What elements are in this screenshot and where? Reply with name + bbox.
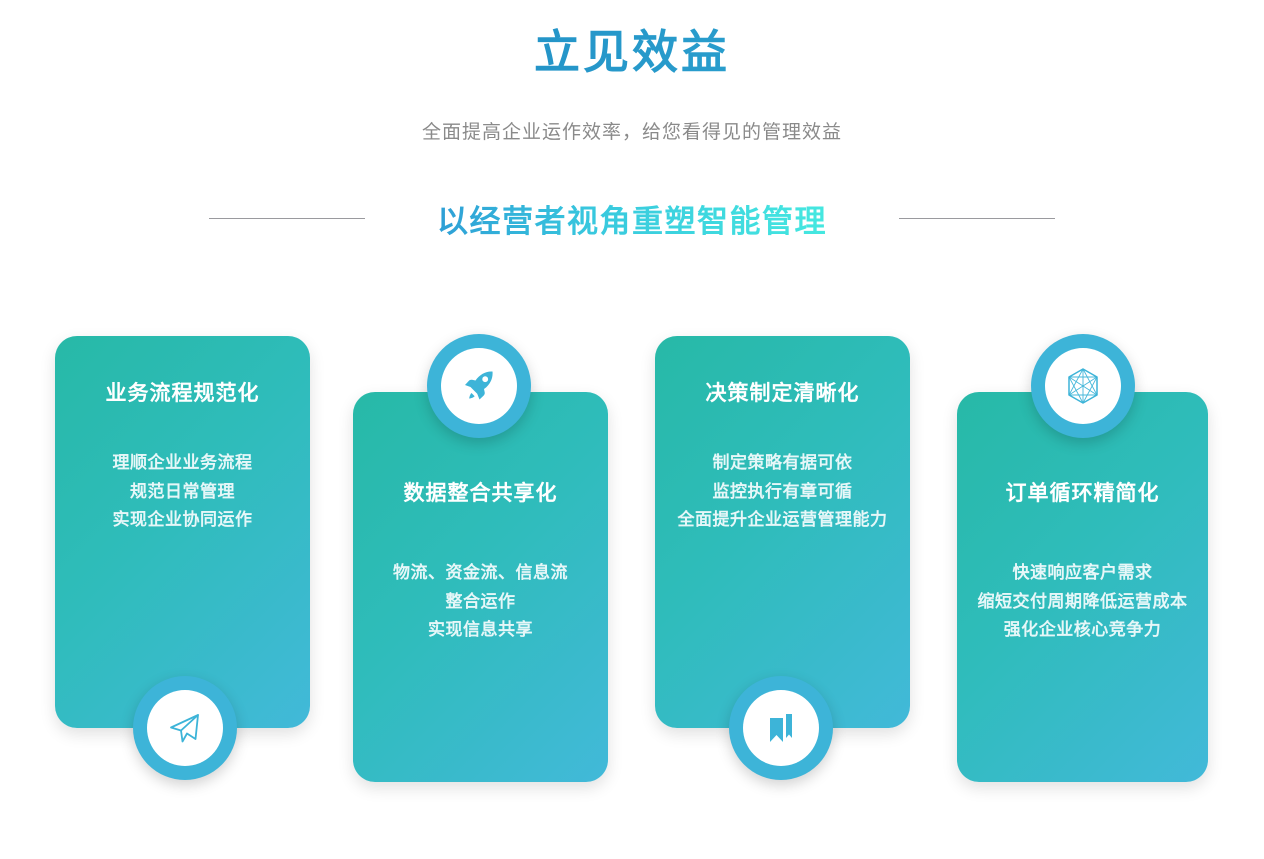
benefit-card-3-description: 制定策略有据可依 监控执行有章可循 全面提升企业运营管理能力 [673,449,892,534]
benefit-card-3-title: 决策制定清晰化 [673,380,892,407]
badge-inner-circle [743,690,819,766]
benefit-card-3-badge[interactable] [729,676,833,780]
badge-inner-circle [147,690,223,766]
benefit-card-4-title: 订单循环精简化 [973,480,1192,507]
divider-right [899,218,1055,219]
section-heading-text: 以经营者视角重塑智能管理 [437,196,827,241]
benefit-card-2[interactable]: 数据整合共享化 物流、资金流、信息流 整合运作 实现信息共享 [353,392,608,782]
page-header: 立见效益 全面提高企业运作效率，给您看得见的管理效益 以经营者视角重塑智能管理 [0,0,1264,241]
benefit-card-2-description: 物流、资金流、信息流 整合运作 实现信息共享 [373,559,588,644]
rocket-icon [459,366,499,406]
page-title: 立见效益 [0,26,1264,79]
benefit-card-4-badge[interactable] [1031,334,1135,438]
benefit-card-1-description: 理顺企业业务流程 规范日常管理 实现企业协同运作 [77,449,288,534]
page-subtitle: 全面提高企业运作效率，给您看得见的管理效益 [0,117,1264,144]
divider-left [209,218,365,219]
benefit-card-3[interactable]: 决策制定清晰化 制定策略有据可依 监控执行有章可循 全面提升企业运营管理能力 [655,336,910,728]
badge-inner-circle [1045,348,1121,424]
benefit-card-1-badge[interactable] [133,676,237,780]
section-heading: 以经营者视角重塑智能管理 [0,196,1264,241]
hexagon-network-icon [1062,365,1104,407]
benefit-card-2-badge[interactable] [427,334,531,438]
benefit-card-2-title: 数据整合共享化 [373,480,588,507]
benefit-card-1-title: 业务流程规范化 [77,380,288,407]
benefit-card-4-description: 快速响应客户需求 缩短交付周期降低运营成本 强化企业核心竞争力 [973,559,1192,644]
benefit-card-4[interactable]: 订单循环精简化 快速响应客户需求 缩短交付周期降低运营成本 强化企业核心竞争力 [957,392,1208,782]
benefit-card-1[interactable]: 业务流程规范化 理顺企业业务流程 规范日常管理 实现企业协同运作 [55,336,310,728]
badge-inner-circle [441,348,517,424]
paper-plane-icon [165,708,205,748]
bookmark-icon [762,708,800,748]
